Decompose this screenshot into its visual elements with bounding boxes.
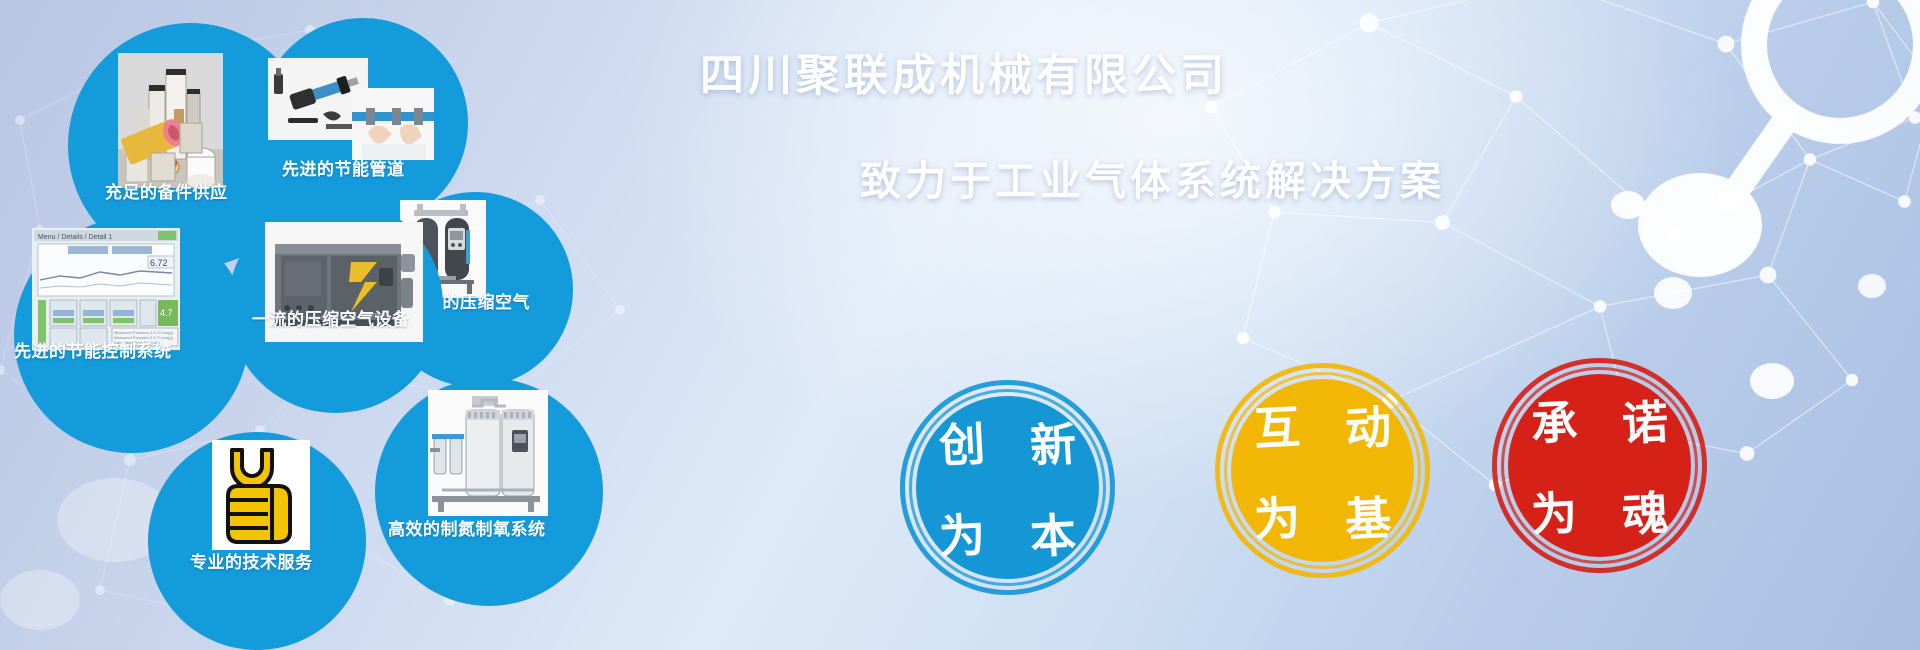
seal-char: 为 (1529, 477, 1578, 545)
seal-char: 为 (1252, 482, 1301, 550)
seal-innovation[interactable]: 创 新 为 本 (900, 380, 1115, 595)
bubble-label-nitrogen-oxygen: 高效的制氮制氧系统 (388, 515, 546, 540)
seal-char: 魂 (1621, 477, 1670, 545)
control-system-screen-photo: Menu / Details / Detail 1 6.72 (32, 228, 180, 350)
molecule-ring-decoration (1611, 0, 1920, 399)
seal-char: 为 (937, 499, 986, 567)
promotional-banner: 充足的备件供应 (0, 0, 1920, 650)
pipe-installation-photo (352, 88, 434, 160)
nitrogen-oxygen-plant-photo (428, 390, 548, 516)
seal-char: 动 (1344, 391, 1393, 459)
seal-commitment[interactable]: 承 诺 为 魂 (1492, 358, 1707, 573)
seal-char: 创 (937, 408, 986, 476)
bubble-label-technical-service: 专业的技术服务 (190, 548, 313, 573)
bubble-label-piping: 先进的节能管道 (282, 155, 405, 180)
seal-char: 本 (1029, 499, 1078, 567)
seal-char: 新 (1029, 408, 1078, 476)
seal-interaction[interactable]: 互 动 为 基 (1215, 363, 1430, 578)
feature-bubble-cluster: 充足的备件供应 (0, 0, 700, 650)
page-title: 四川聚联成机械有限公司 (700, 48, 1445, 103)
svg-text:6.72: 6.72 (150, 258, 168, 268)
seal-char: 诺 (1621, 386, 1670, 454)
filter-cartridges-photo (118, 53, 223, 188)
seal-text-interaction: 互 动 为 基 (1231, 379, 1414, 562)
seal-text-innovation: 创 新 为 本 (916, 396, 1099, 579)
headline-block: 四川聚联成机械有限公司 致力于工业气体系统解决方案 (700, 48, 1445, 207)
seal-text-commitment: 承 诺 为 魂 (1508, 374, 1691, 557)
bubble-label-control-system: 先进的节能控制系统 (14, 337, 172, 362)
thumbs-up-wrench-icon (212, 440, 310, 550)
bubble-label-spare-parts: 充足的备件供应 (105, 178, 228, 203)
svg-text:4.7: 4.7 (160, 308, 173, 318)
svg-text:Menu / Details / Detail 1: Menu / Details / Detail 1 (38, 234, 112, 241)
seal-char: 基 (1344, 482, 1393, 550)
seal-char: 互 (1252, 391, 1301, 459)
seal-char: 承 (1529, 386, 1578, 454)
page-subtitle: 致力于工业气体系统解决方案 (860, 147, 1445, 207)
bubble-label-compressor: 一流的压缩空气设备 (252, 305, 410, 330)
